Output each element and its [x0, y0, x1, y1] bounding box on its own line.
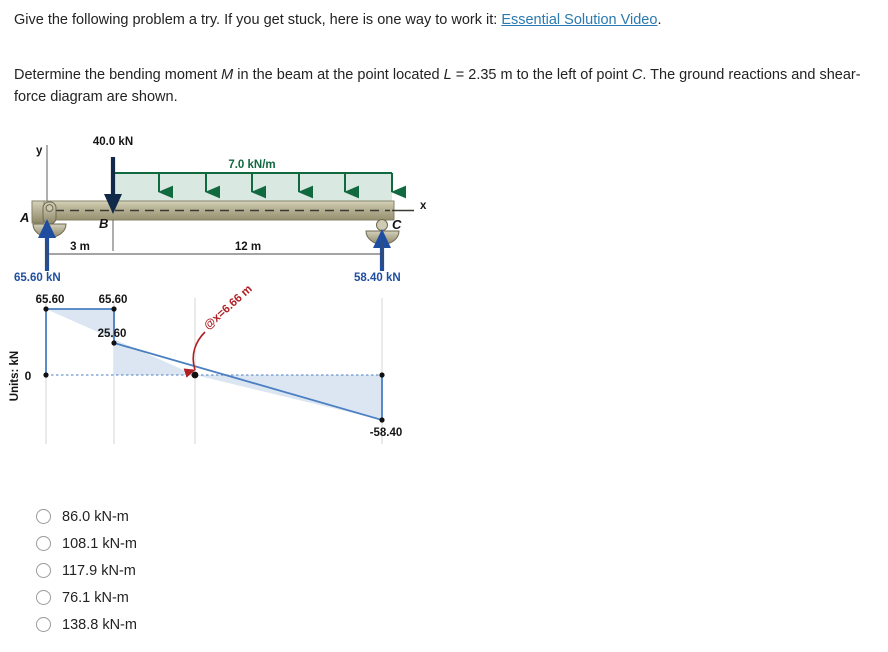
distributed-load-label: 7.0 kN/m [228, 159, 275, 171]
point-load-label: 40.0 kN [93, 136, 133, 148]
prompt-part3: = 2.35 m to the left of point [452, 67, 632, 83]
beam-x-axis: x [392, 200, 427, 212]
answer-option-5[interactable]: 138.8 kN-m [36, 611, 436, 638]
shear-label-b-left: 65.60 [99, 294, 128, 306]
beam-dimension-line: 3 m 12 m [47, 241, 382, 266]
shear-units-label-group: Units: kN [9, 351, 21, 401]
answer-option-5-label: 138.8 kN-m [62, 617, 137, 633]
answer-option-3-label: 117.9 kN-m [62, 563, 136, 579]
radio-icon[interactable] [36, 509, 51, 524]
prompt-variable-c: C [632, 67, 642, 83]
intro-paragraph: Give the following problem a try. If you… [14, 10, 874, 30]
answer-option-2-label: 108.1 kN-m [62, 536, 137, 552]
shear-units-label: Units: kN [9, 351, 21, 401]
beam-node-b: B [99, 216, 113, 251]
beam-and-shear-figure: y 7.0 kN/m 40.0 kN A C [0, 126, 460, 466]
radio-icon[interactable] [36, 563, 51, 578]
answer-options-list: 86.0 kN-m 108.1 kN-m 117.9 kN-m 76.1 kN-… [36, 503, 436, 638]
beam-node-b-label: B [99, 216, 108, 231]
answer-option-4[interactable]: 76.1 kN-m [36, 584, 436, 611]
radio-icon[interactable] [36, 590, 51, 605]
beam-node-a-label: A [19, 210, 29, 225]
intro-text-after: . [657, 12, 661, 28]
prompt-part1: Determine the bending moment [14, 67, 221, 83]
radio-icon[interactable] [36, 617, 51, 632]
shear-label-c: -58.40 [370, 427, 403, 439]
answer-option-2[interactable]: 108.1 kN-m [36, 530, 436, 557]
essential-solution-video-link[interactable]: Essential Solution Video [501, 12, 657, 28]
answer-option-4-label: 76.1 kN-m [62, 590, 129, 606]
zero-crossing-label: @x=6.66 m [202, 283, 255, 332]
distributed-load: 7.0 kN/m [113, 159, 392, 201]
beam-x-axis-label: x [420, 200, 427, 212]
beam-node-c-label: C [392, 217, 402, 232]
dimension-bc-label: 12 m [235, 241, 261, 253]
answer-option-3[interactable]: 117.9 kN-m [36, 557, 436, 584]
answer-option-1-label: 86.0 kN-m [62, 509, 129, 525]
problem-statement: Determine the bending moment M in the be… [14, 64, 876, 108]
prompt-variable-l: L [444, 67, 452, 83]
intro-text-before: Give the following problem a try. If you… [14, 12, 501, 28]
shear-label-b-right: 25.60 [98, 328, 127, 340]
prompt-variable-m: M [221, 67, 233, 83]
shear-zero-label: 0 [25, 369, 32, 383]
zero-crossing-annotation: @x=6.66 m [193, 283, 255, 370]
radio-icon[interactable] [36, 536, 51, 551]
reaction-c-label: 58.40 kN [354, 272, 401, 284]
beam-body [32, 201, 394, 220]
reaction-a-label: 65.60 kN [14, 272, 61, 284]
beam-y-axis-label: y [36, 145, 43, 157]
prompt-part2: in the beam at the point located [233, 67, 443, 83]
dimension-ab-label: 3 m [70, 241, 90, 253]
shear-label-a: 65.60 [36, 294, 65, 306]
answer-option-1[interactable]: 86.0 kN-m [36, 503, 436, 530]
